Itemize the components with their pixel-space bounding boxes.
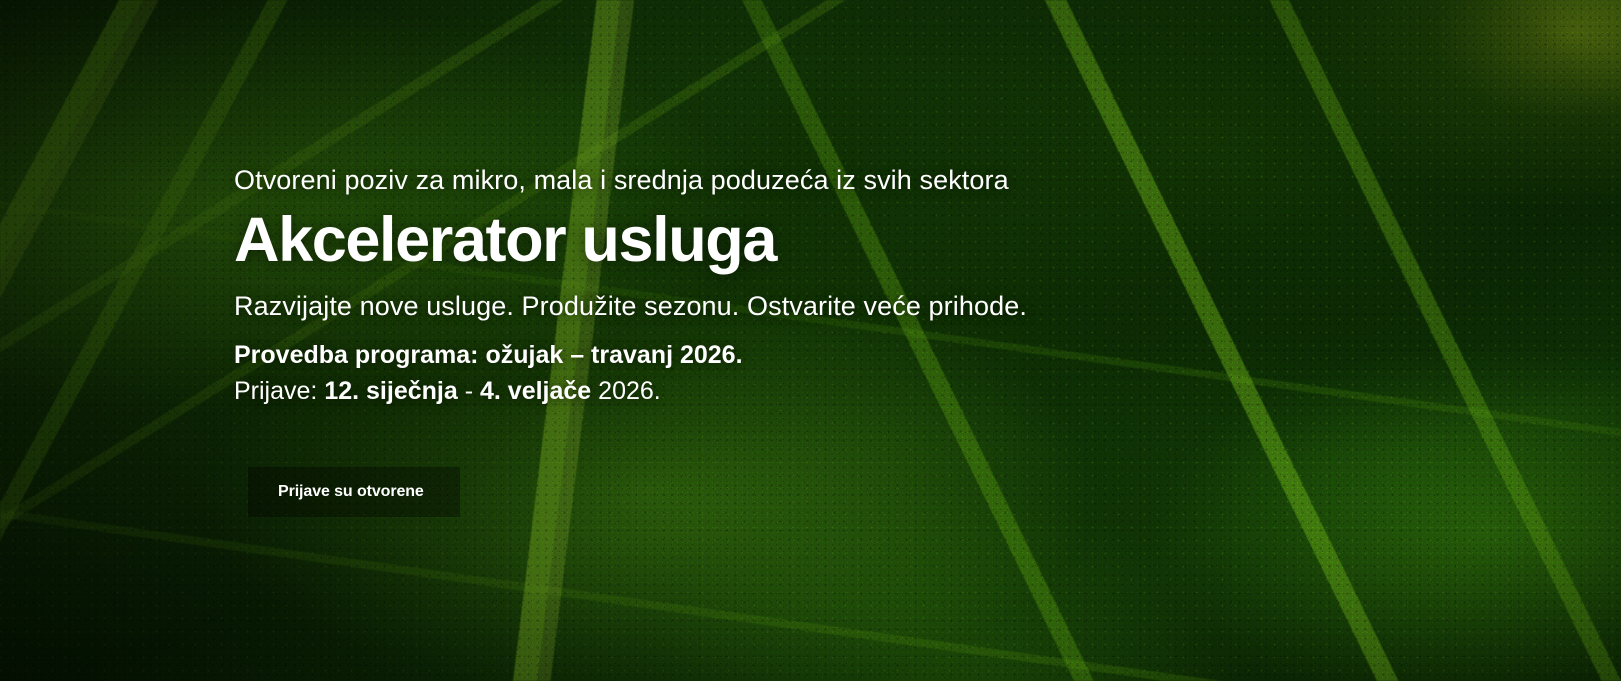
application-end-date: 4. veljače — [480, 377, 591, 405]
hero-subheadline: Razvijajte nove usluge. Produžite sezonu… — [234, 290, 1334, 323]
hero-application-period: Prijave: 12. siječnja - 4. veljače 2026. — [234, 375, 1334, 407]
hero-program-period: Provedba programa: ožujak – travanj 2026… — [234, 339, 1334, 371]
hero-cta-container: Prijave su otvorene — [234, 467, 1334, 517]
page-title: Akcelerator usluga — [234, 208, 1334, 274]
hero-eyebrow: Otvoreni poziv za mikro, mala i srednja … — [234, 164, 1334, 197]
hero-banner: Otvoreni poziv za mikro, mala i srednja … — [0, 0, 1621, 681]
application-year: 2026. — [598, 377, 661, 405]
hero-content: Otvoreni poziv za mikro, mala i srednja … — [234, 0, 1334, 681]
application-start-date: 12. siječnja — [324, 377, 457, 405]
application-period-label: Prijave: — [234, 377, 317, 405]
applications-open-button[interactable]: Prijave su otvorene — [248, 467, 460, 517]
application-date-separator: - — [465, 377, 473, 405]
